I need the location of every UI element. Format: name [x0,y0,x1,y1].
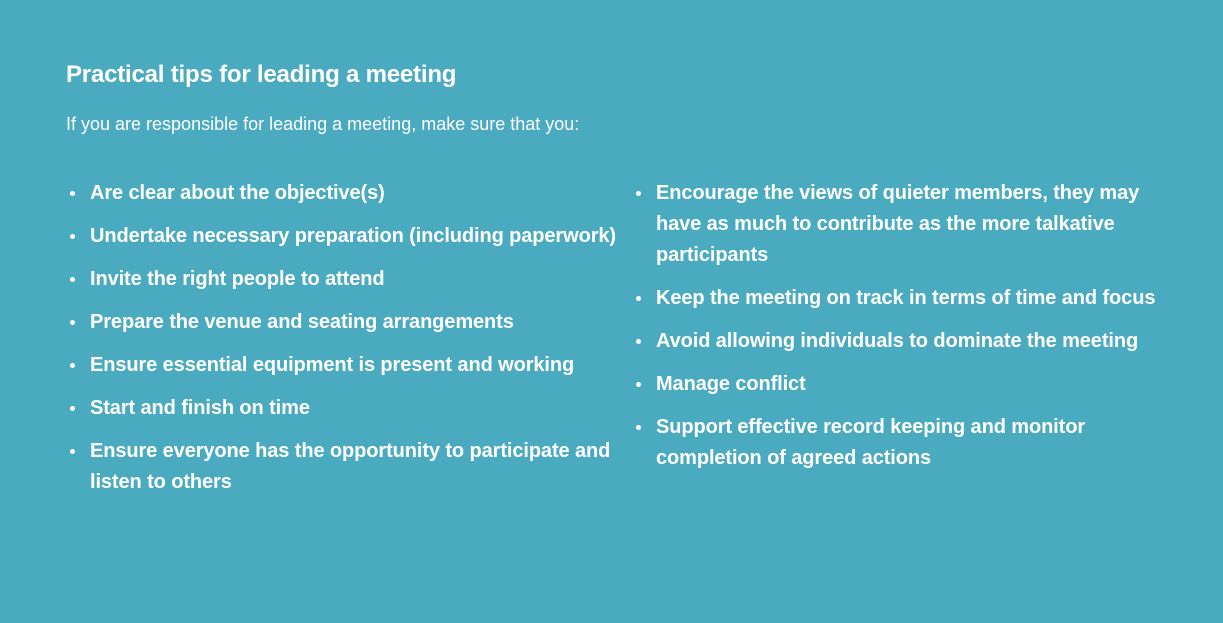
bullet-dot-icon [70,191,75,196]
list-item: Ensure everyone has the opportunity to p… [66,436,622,498]
bullet-dot-icon [636,339,641,344]
list-item-label: Undertake necessary preparation (includi… [90,221,622,252]
list-item-label: Start and finish on time [90,393,622,424]
bullet-dot-icon [70,277,75,282]
bullet-dot-icon [70,363,75,368]
bullet-dot-icon [70,406,75,411]
list-item-label: Are clear about the objective(s) [90,178,622,209]
list-item: Encourage the views of quieter members, … [632,178,1162,271]
list-item: Start and finish on time [66,393,622,424]
list-item-label: Manage conflict [656,369,1162,400]
list-item-label: Prepare the venue and seating arrangemen… [90,307,622,338]
list-item-label: Invite the right people to attend [90,264,622,295]
right-bullet-list: Encourage the views of quieter members, … [632,178,1162,474]
slide-content: Practical tips for leading a meeting If … [66,60,1163,498]
list-item: Manage conflict [632,369,1162,400]
list-item: Are clear about the objective(s) [66,178,622,209]
list-item: Undertake necessary preparation (includi… [66,221,622,252]
left-bullet-list: Are clear about the objective(s) Underta… [66,178,622,498]
list-item-label: Ensure everyone has the opportunity to p… [90,436,622,498]
bullet-dot-icon [636,191,641,196]
list-item-label: Avoid allowing individuals to dominate t… [656,326,1162,357]
list-item: Avoid allowing individuals to dominate t… [632,326,1162,357]
bullet-dot-icon [70,234,75,239]
list-item: Prepare the venue and seating arrangemen… [66,307,622,338]
page-title: Practical tips for leading a meeting [66,60,1163,90]
list-item: Invite the right people to attend [66,264,622,295]
bullet-columns: Are clear about the objective(s) Underta… [66,178,1163,498]
bullet-dot-icon [636,296,641,301]
bullet-dot-icon [636,425,641,430]
bullet-dot-icon [636,382,641,387]
list-item-label: Support effective record keeping and mon… [656,412,1162,474]
list-item: Ensure essential equipment is present an… [66,350,622,381]
list-item: Support effective record keeping and mon… [632,412,1162,474]
list-item-label: Keep the meeting on track in terms of ti… [656,283,1162,314]
slide-subtitle: If you are responsible for leading a mee… [66,112,1163,136]
list-item-label: Ensure essential equipment is present an… [90,350,622,381]
bullet-dot-icon [70,449,75,454]
left-column: Are clear about the objective(s) Underta… [66,178,632,498]
slide-canvas: Practical tips for leading a meeting If … [0,0,1223,623]
list-item: Keep the meeting on track in terms of ti… [632,283,1162,314]
right-column: Encourage the views of quieter members, … [632,178,1162,474]
bullet-dot-icon [70,320,75,325]
list-item-label: Encourage the views of quieter members, … [656,178,1162,271]
